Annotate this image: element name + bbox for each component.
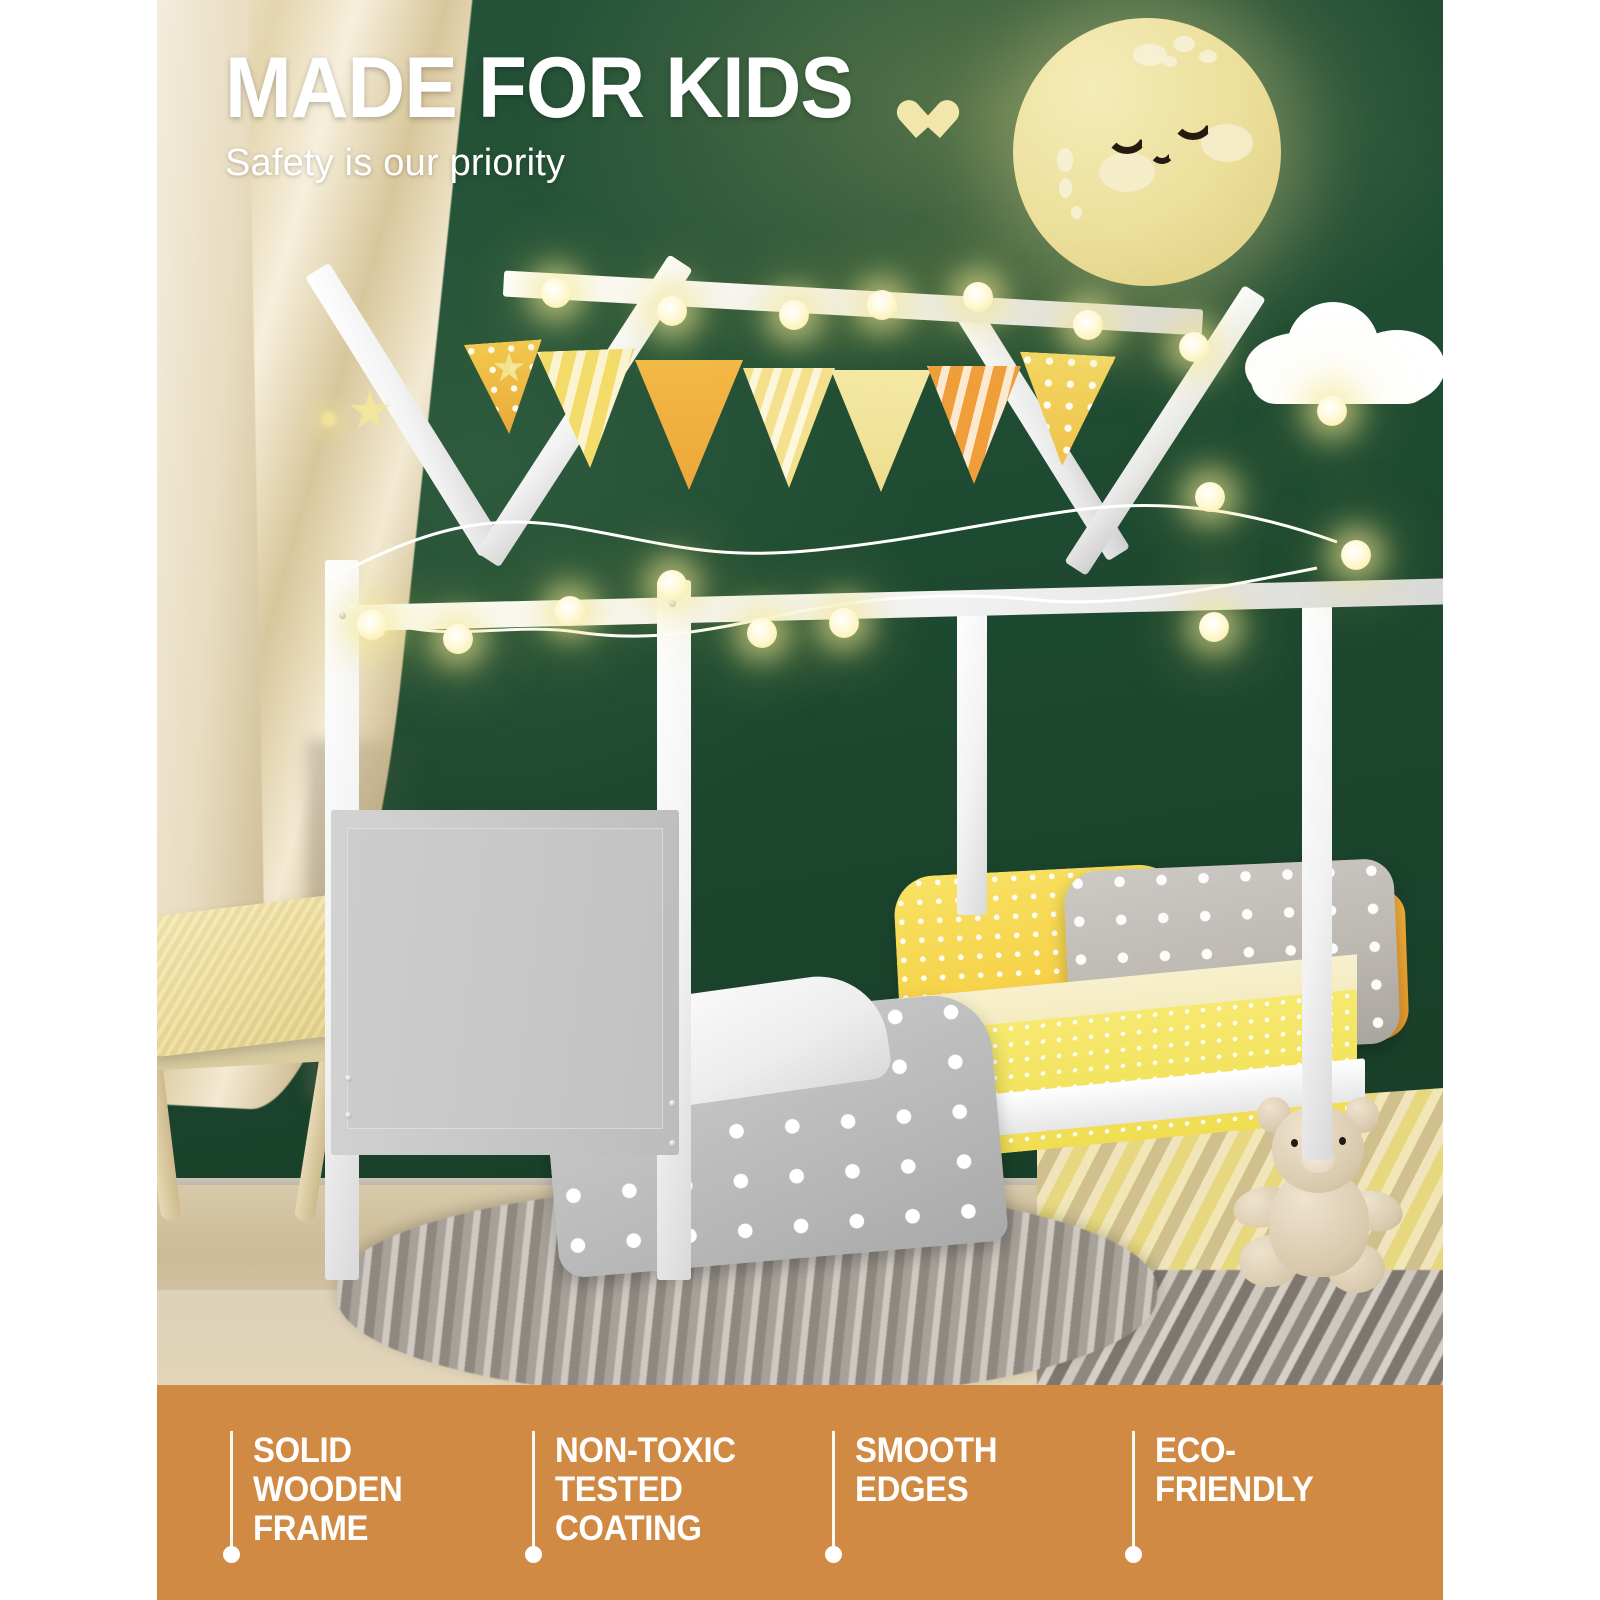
feature-marker-icon	[531, 1431, 537, 1563]
heart-icon	[913, 100, 955, 140]
light-bulb-icon	[829, 608, 859, 638]
feature-item: SMOOTH EDGES	[831, 1431, 1131, 1563]
light-bulb-icon	[1195, 482, 1225, 512]
light-bulb-icon	[747, 618, 777, 648]
feature-label: SOLID WOODEN FRAME	[253, 1431, 402, 1549]
feature-item: NON-TOXIC TESTED COATING	[531, 1431, 831, 1563]
promo-banner: MADE FOR KIDS Safety is our priority SOL…	[0, 0, 1600, 1600]
light-bulb-icon	[867, 290, 897, 320]
feature-item: ECO- FRIENDLY	[1131, 1431, 1431, 1563]
light-bulb-icon	[357, 610, 387, 640]
feature-label: NON-TOXIC TESTED COATING	[555, 1431, 736, 1549]
feature-marker-icon	[1131, 1431, 1137, 1563]
page-subtitle: Safety is our priority	[225, 142, 1105, 185]
header: MADE FOR KIDS Safety is our priority	[225, 46, 1105, 185]
light-bulb-icon	[963, 282, 993, 312]
light-bulb-icon	[541, 278, 571, 308]
feature-marker-icon	[831, 1431, 837, 1563]
light-bulb-icon	[657, 296, 687, 326]
feature-label: ECO- FRIENDLY	[1155, 1431, 1313, 1509]
light-bulb-icon	[555, 596, 585, 626]
feature-item: SOLID WOODEN FRAME	[229, 1431, 531, 1563]
feature-marker-icon	[229, 1431, 235, 1563]
bed-post	[1302, 600, 1332, 1160]
feature-label: SMOOTH EDGES	[855, 1431, 997, 1509]
light-bulb-icon	[1073, 310, 1103, 340]
sparkle-icon	[321, 412, 336, 427]
bed-post	[957, 595, 987, 915]
light-bulb-icon	[1317, 396, 1347, 426]
scene-canvas: MADE FOR KIDS Safety is our priority SOL…	[157, 0, 1443, 1600]
headboard-panel	[331, 810, 679, 1155]
light-bulb-icon	[657, 570, 687, 600]
light-bulb-icon	[779, 300, 809, 330]
light-bulb-icon	[1179, 332, 1209, 362]
bunting-icon	[457, 322, 1227, 492]
light-bulb-icon	[1341, 540, 1371, 570]
light-bulb-icon	[1199, 612, 1229, 642]
feature-bar: SOLID WOODEN FRAME NON-TOXIC TESTED COAT…	[157, 1385, 1443, 1600]
light-bulb-icon	[443, 624, 473, 654]
